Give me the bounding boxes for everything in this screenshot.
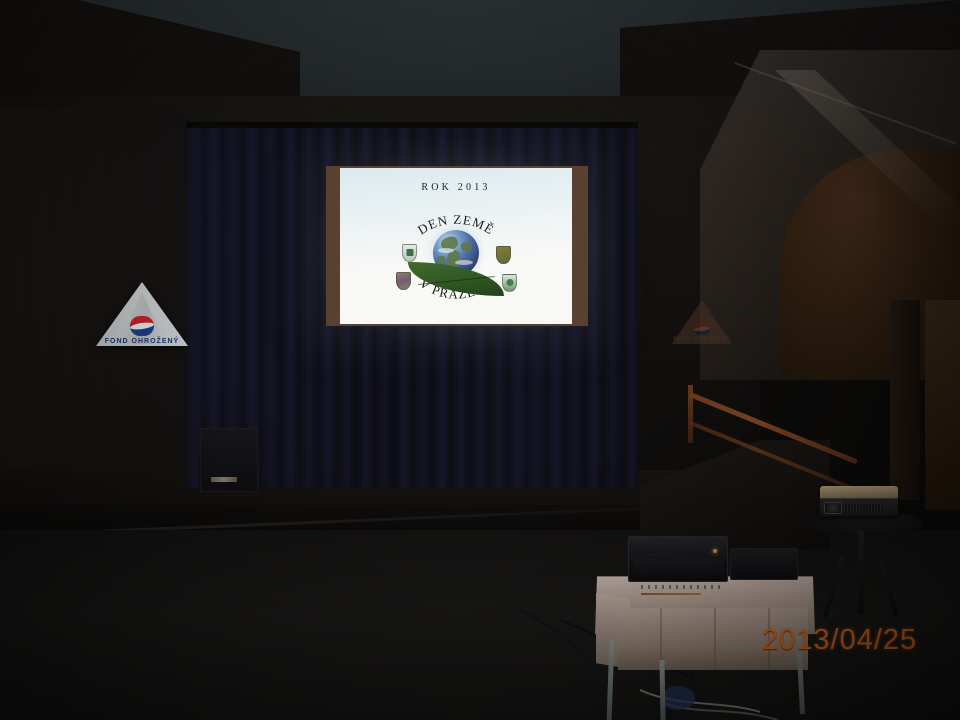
photograph-dark-auditorium: ROK 2013 DEN ZEMĚ V PRAZE 21 xyxy=(0,0,960,720)
coat-of-arms-bottom-right xyxy=(502,274,517,292)
projector-stand-pole xyxy=(858,530,864,614)
amplifier-power-led xyxy=(713,549,717,553)
projector-lens xyxy=(824,502,842,514)
amplifier-front-panel xyxy=(633,559,723,579)
pennant-right: FOND OHROŽENÝ xyxy=(672,300,732,344)
wall-pillar xyxy=(890,300,920,500)
video-projector xyxy=(820,486,898,516)
av-amplifier xyxy=(628,536,728,582)
doorway-right xyxy=(925,300,960,510)
pennant-left: FOND OHROŽENÝ xyxy=(96,282,188,346)
table-leg-front-middle xyxy=(659,660,665,720)
projector-vent xyxy=(844,504,882,511)
coat-of-arms-bottom-left xyxy=(396,272,411,290)
pennant-right-logo-icon xyxy=(694,322,710,335)
slide-logo: DEN ZEMĚ V PRAZE 21 xyxy=(340,196,572,316)
amplifier-knobs xyxy=(641,585,723,589)
amplifier-indicator-strip xyxy=(641,593,701,595)
coat-of-arms-top-left xyxy=(402,244,417,262)
coat-of-arms-top-right xyxy=(496,246,511,264)
pennant-right-label: FOND OHROŽENÝ xyxy=(674,336,731,342)
av-rack-unit xyxy=(730,548,798,580)
camera-date-stamp: 2013/04/25 xyxy=(762,624,917,657)
projection-screen: ROK 2013 DEN ZEMĚ V PRAZE 21 xyxy=(340,168,572,324)
leaf-vein xyxy=(418,276,494,285)
pennant-left-logo-icon xyxy=(130,316,154,336)
pennant-left-label: FOND OHROŽENÝ xyxy=(105,338,179,345)
